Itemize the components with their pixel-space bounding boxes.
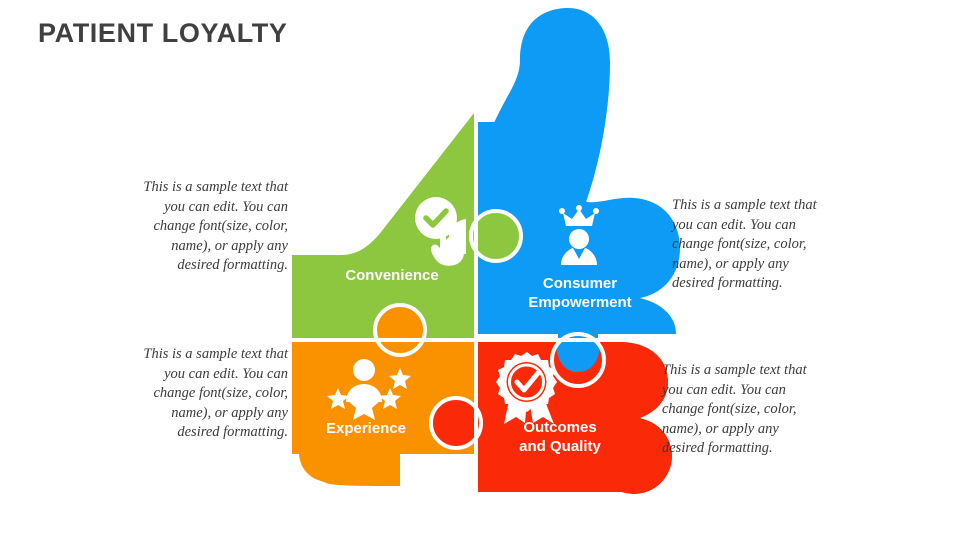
crown-jewel-right [593, 208, 599, 214]
piece-label-convenience: Convenience [312, 266, 472, 285]
piece-label-outcomes-and-quality: Outcomes and Quality [482, 418, 638, 456]
description-bottom-left: This is a sample text that you can edit.… [140, 345, 288, 443]
experience-head [353, 359, 375, 381]
user-head [569, 229, 589, 249]
experience-bottom-bump [300, 448, 400, 486]
puzzle-piece-consumer-empowerment[interactable] [478, 8, 680, 386]
description-top-right: This is a sample text that you can edit.… [672, 196, 820, 294]
piece-label-experience: Experience [288, 419, 444, 438]
slide-canvas: PATIENT LOYALTY [0, 0, 960, 540]
description-bottom-right: This is a sample text that you can edit.… [662, 361, 810, 459]
finger-scallop-1 [600, 348, 668, 416]
blue-tab-neck [558, 326, 598, 360]
crown-jewel-left [559, 208, 565, 214]
award-inner-disc [507, 362, 547, 402]
description-top-left: This is a sample text that you can edit.… [140, 178, 288, 276]
piece-label-consumer-empowerment: Consumer Empowerment [498, 274, 662, 312]
crown-jewel-mid [576, 205, 582, 211]
